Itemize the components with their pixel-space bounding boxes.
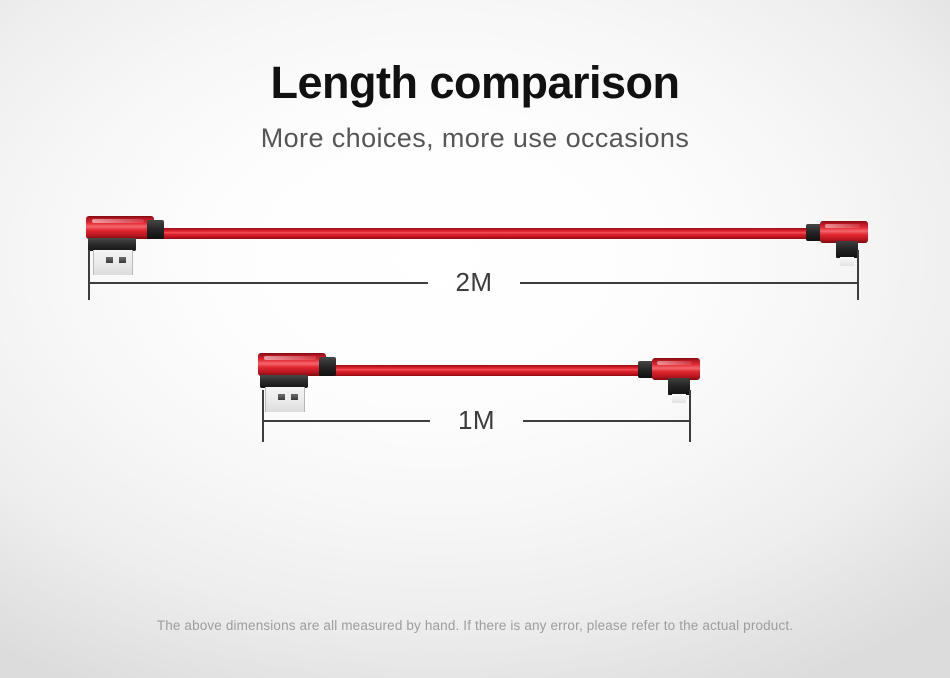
dimension-extension-right-2m: [857, 250, 859, 300]
connector-highlight: [657, 361, 692, 365]
micro-usb-plug: [668, 378, 690, 395]
usb-a-connector-1m: [258, 353, 326, 415]
micro-usb-connector-1m: [638, 358, 700, 408]
page-title: Length comparison: [0, 58, 950, 108]
dimension-label-1m: 1M: [430, 407, 523, 433]
cable-ferrule: [319, 357, 336, 376]
micro-usb-connector-2m: [806, 221, 868, 271]
dimension-line-right-1m: [523, 420, 690, 422]
usb-contact-pin: [291, 394, 298, 400]
dimension-label-2m: 2M: [428, 269, 520, 295]
usb-a-connector-2m: [86, 216, 154, 278]
usb-contact-pin: [278, 394, 285, 400]
usb-tongue: [93, 250, 133, 275]
connector-highlight: [92, 219, 144, 223]
usb-contact-pin: [119, 257, 126, 263]
micro-usb-plug: [836, 241, 858, 258]
measurement-disclaimer: The above dimensions are all measured by…: [0, 618, 950, 633]
dimension-extension-right-1m: [689, 390, 691, 442]
micro-usb-tip: [840, 257, 854, 266]
page-subtitle: More choices, more use occasions: [0, 123, 950, 154]
dimension-extension-left-1m: [262, 390, 264, 442]
micro-usb-tip: [672, 394, 686, 403]
cable-ferrule: [147, 220, 164, 239]
cable-cord-2m: [140, 228, 816, 239]
length-comparison-banner: Length comparison More choices, more use…: [0, 0, 950, 678]
usb-tongue: [265, 387, 305, 412]
dimension-line-left-2m: [88, 282, 428, 284]
usb-contact-pin: [106, 257, 113, 263]
connector-highlight: [825, 224, 860, 228]
dimension-line-right-2m: [520, 282, 858, 284]
cable-cord-1m: [312, 365, 650, 376]
connector-highlight: [264, 356, 316, 360]
dimension-extension-left-2m: [88, 250, 90, 300]
dimension-line-left-1m: [262, 420, 430, 422]
